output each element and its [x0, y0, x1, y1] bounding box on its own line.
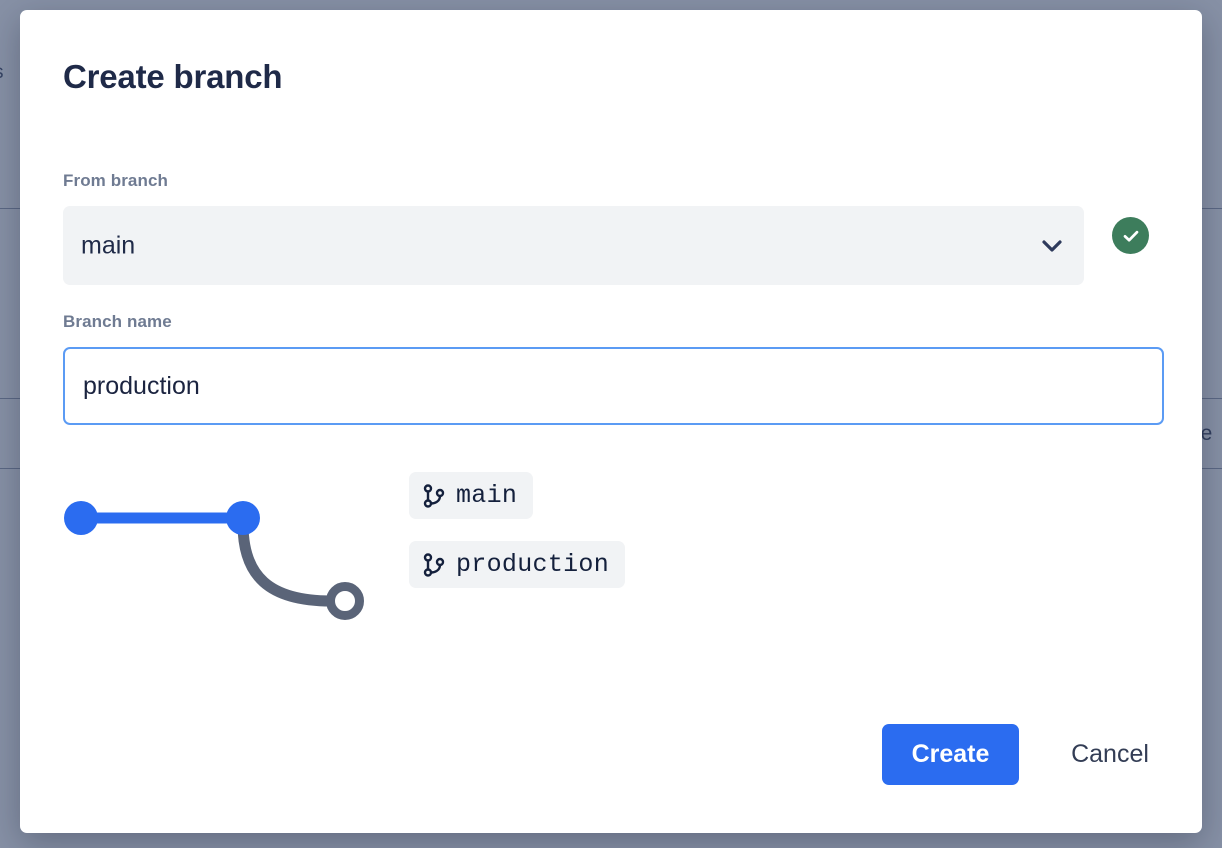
graph-node-commit-3 [331, 587, 360, 616]
from-branch-select[interactable]: main [63, 206, 1084, 285]
create-button[interactable]: Create [882, 724, 1019, 785]
branch-graph [63, 480, 393, 635]
chevron-down-icon [1042, 240, 1062, 252]
branch-chip-production[interactable]: production [409, 541, 625, 588]
branch-name-label: Branch name [63, 312, 172, 332]
cancel-button[interactable]: Cancel [1048, 724, 1172, 785]
branch-name-input[interactable] [63, 347, 1164, 425]
branch-chip-label: main [456, 481, 517, 510]
dialog-title: Create branch [63, 58, 282, 96]
branch-chip-list: main production [409, 472, 929, 610]
branch-chip-row: production [409, 541, 929, 610]
branch-chip-label: production [456, 550, 609, 579]
check-circle-icon [1112, 217, 1149, 254]
graph-edge-branch [243, 524, 331, 601]
graph-node-commit-1 [64, 501, 98, 535]
branch-chip-main[interactable]: main [409, 472, 533, 519]
from-branch-label: From branch [63, 171, 168, 191]
from-branch-value: main [81, 231, 135, 260]
app-root: s je Create branch From branch main Bran… [0, 0, 1222, 848]
git-branch-icon [423, 553, 445, 577]
branch-chip-row: main [409, 472, 929, 541]
git-branch-icon [423, 484, 445, 508]
create-branch-dialog: Create branch From branch main Branch na… [20, 10, 1202, 833]
graph-node-commit-2 [226, 501, 260, 535]
